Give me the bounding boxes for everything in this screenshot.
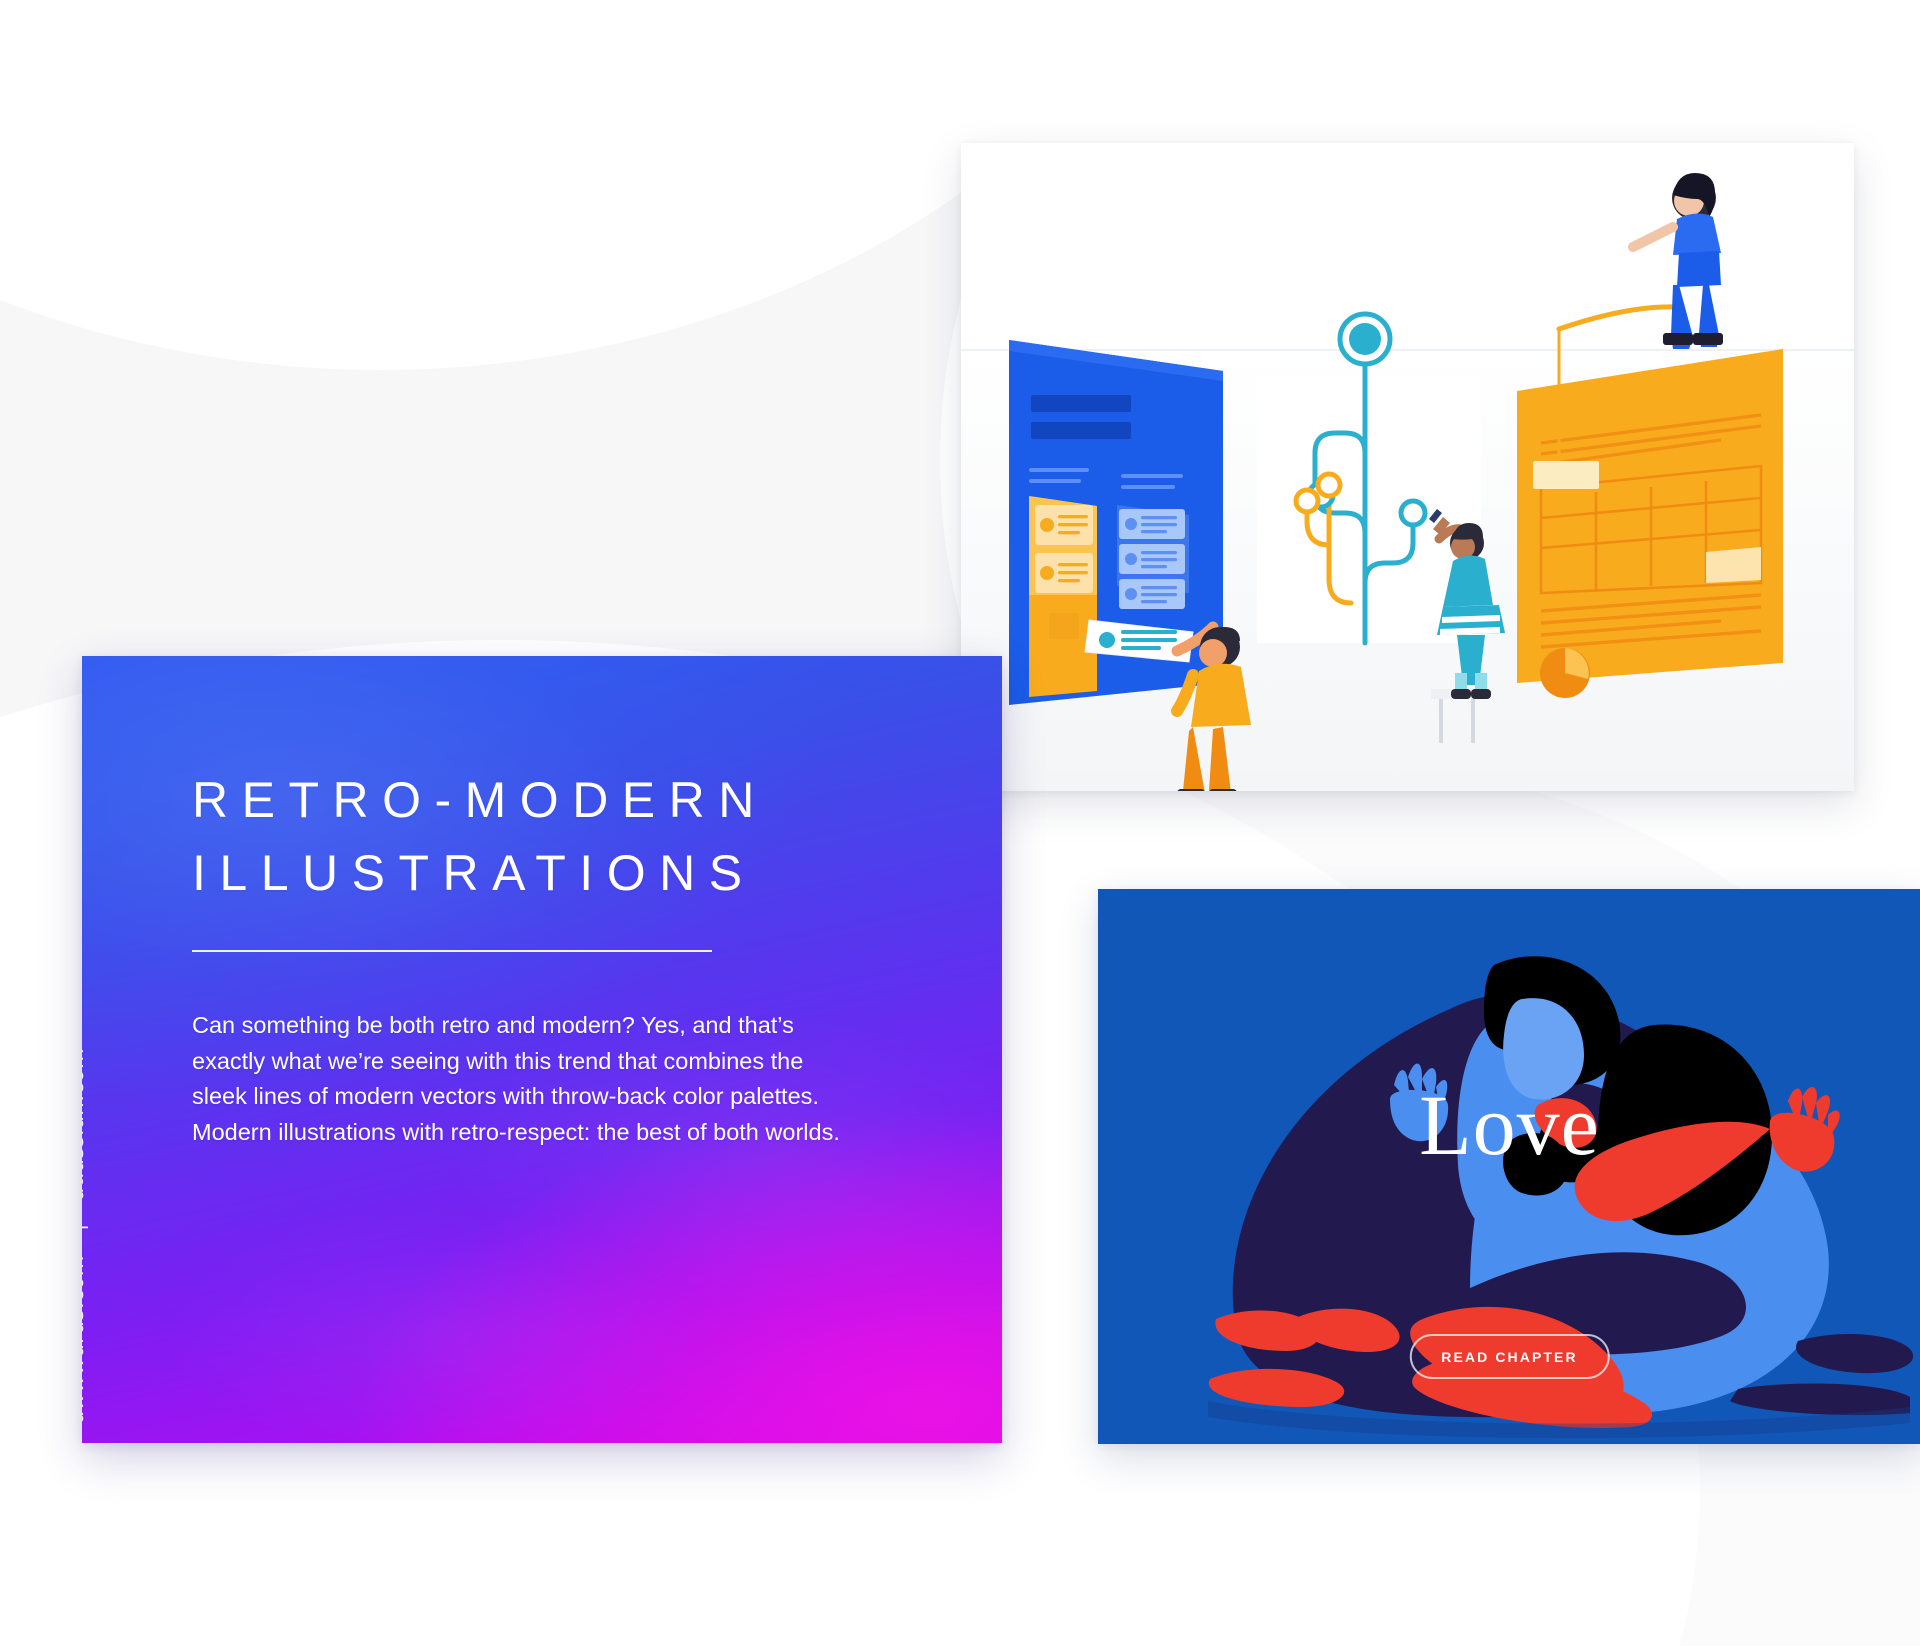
credit-awwwards: awwwards.com <box>82 1254 88 1423</box>
title-card-paragraph: Can something be both retro and modern? … <box>192 1008 864 1151</box>
credit-atlassian: atlassian.com <box>82 1047 88 1200</box>
title-divider <box>192 950 712 952</box>
screenshot-canvas: RETRO-MODERN ILLUSTRATIONS Can something… <box>0 0 1920 1646</box>
title-card: RETRO-MODERN ILLUSTRATIONS Can something… <box>82 656 1002 1443</box>
pie-chart-icon <box>1540 648 1590 698</box>
page-title-line-1: RETRO-MODERN <box>192 764 932 837</box>
read-chapter-button[interactable]: READ CHAPTER <box>1409 1334 1609 1379</box>
love-card: Love READ CHAPTER <box>1098 889 1920 1444</box>
title-card-content: RETRO-MODERN ILLUSTRATIONS Can something… <box>192 764 932 1151</box>
collaboration-illustration <box>961 143 1854 791</box>
kanban-board-blue <box>1009 340 1223 705</box>
credit-separator: | <box>82 1207 88 1247</box>
vertical-credits: awwwards.com | atlassian.com <box>82 1047 88 1423</box>
illustration-card <box>961 143 1854 791</box>
page-title-line-2: ILLUSTRATIONS <box>192 837 932 910</box>
